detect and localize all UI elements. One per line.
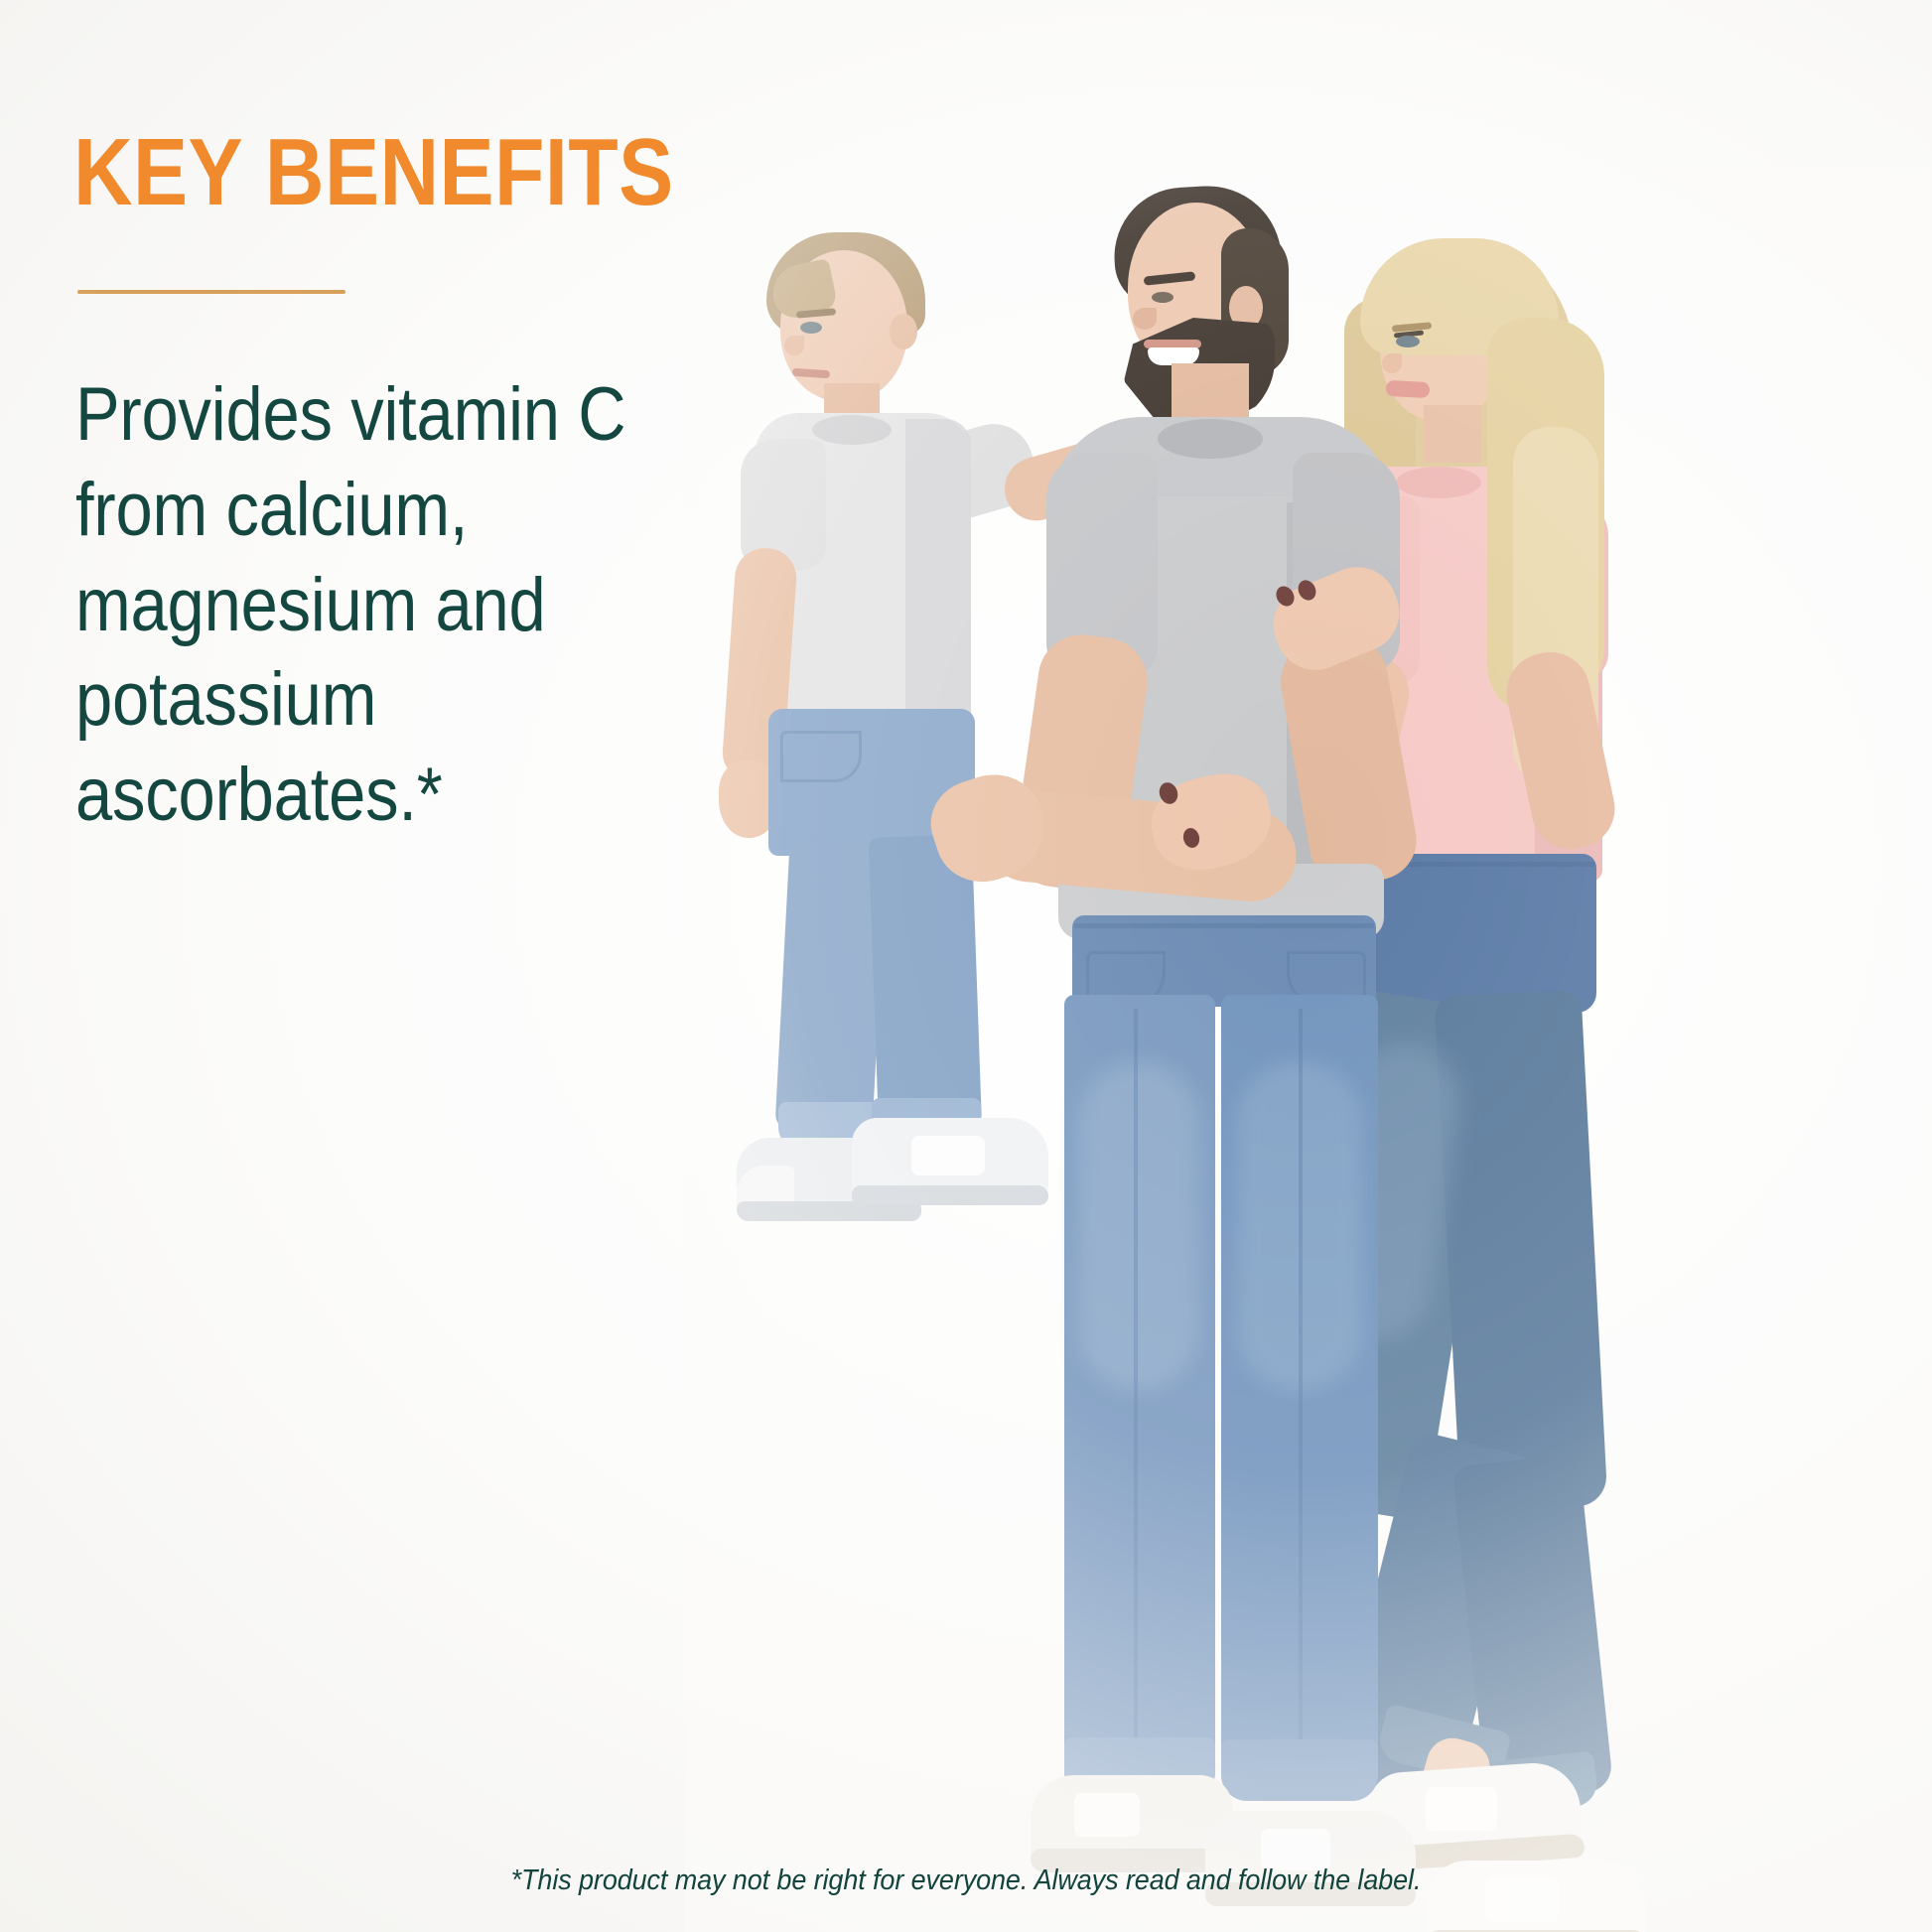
woman-left-shoe-laces [1426, 1787, 1497, 1831]
man-nose [1133, 308, 1157, 330]
woman-right-leg [1434, 989, 1607, 1512]
boy-ear [890, 314, 917, 349]
man-left-shoe-laces [1074, 1793, 1140, 1837]
page-title: KEY BENEFITS [73, 125, 674, 220]
boy-jeans-pocket [780, 731, 862, 782]
woman-neck [1424, 405, 1481, 463]
boy-eye [800, 322, 822, 334]
man-left-leg-highlight [1078, 1062, 1199, 1390]
benefit-text: Provides vitamin C from calcium, magnesi… [75, 367, 634, 843]
footnote-disclaimer: *This product may not be right for every… [68, 1864, 1864, 1897]
boy-right-shoe-laces-front [911, 1136, 985, 1175]
benefit-line: Provides vitamin C [75, 367, 634, 463]
boy-right-shoe-sole-front [852, 1185, 1048, 1205]
man-jeans-waistband [1074, 923, 1374, 928]
boy-nose [784, 336, 804, 355]
key-benefits-product-card: KEY BENEFITS Provides vitamin C from cal… [0, 0, 1932, 1932]
benefit-line: from calcium, [75, 463, 634, 558]
man-right-leg-seam [1299, 1009, 1303, 1783]
man-left-leg-seam [1134, 1009, 1138, 1783]
man-collar [1158, 419, 1263, 459]
benefit-line: potassium [75, 652, 634, 748]
man-right-cuff [1221, 1739, 1378, 1801]
woman-collar [1396, 467, 1481, 498]
woman-lips [1386, 380, 1431, 398]
title-divider [77, 290, 345, 294]
benefit-line: ascorbates.* [75, 748, 634, 843]
man-eye [1152, 292, 1173, 303]
woman-nose [1382, 353, 1402, 373]
boy-shirt-shadow [905, 419, 971, 739]
woman-eye [1396, 336, 1420, 347]
family-photo [685, 169, 1932, 1932]
boy-right-leg [869, 834, 982, 1135]
boy-collar [812, 415, 892, 445]
benefit-line: magnesium and [75, 558, 634, 653]
